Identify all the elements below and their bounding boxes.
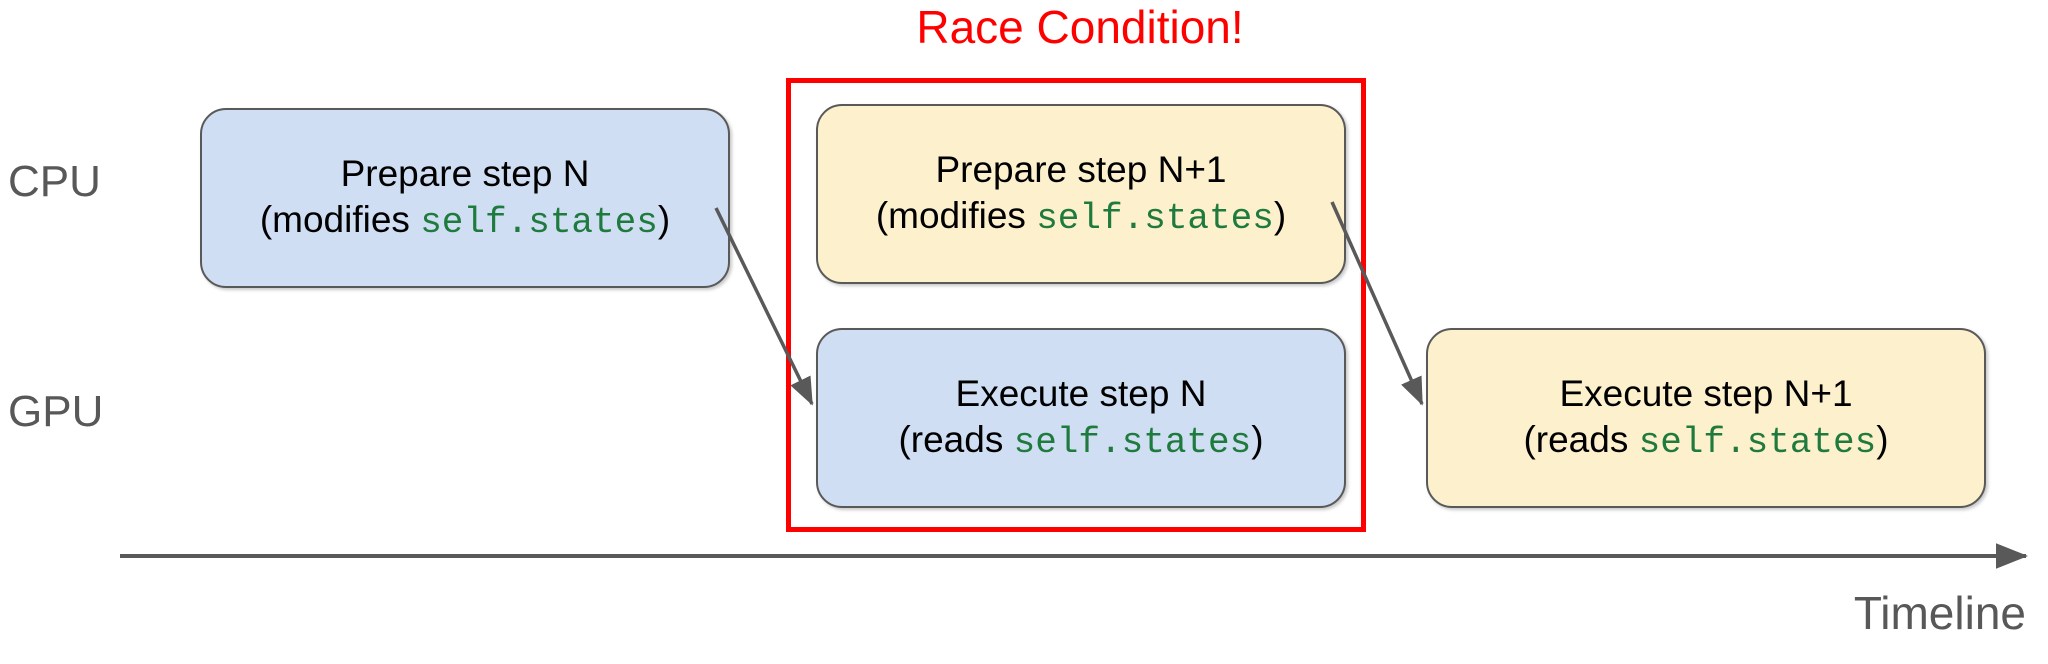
- text-suffix: ): [658, 199, 670, 240]
- text-suffix: ): [1876, 419, 1888, 460]
- task-box-execute-step-n-line1: Execute step N: [956, 371, 1207, 417]
- diagram-canvas: CPU GPU Race Condition! Prepare step N (…: [0, 0, 2048, 664]
- code-token-self-states: self.states: [420, 202, 658, 243]
- task-box-execute-step-n-line2: (reads self.states): [898, 417, 1263, 466]
- task-box-execute-step-n-plus-1[interactable]: Execute step N+1 (reads self.states): [1426, 328, 1986, 508]
- code-token-self-states: self.states: [1014, 422, 1252, 463]
- dependency-arrow-prepare-n-to-execute-n: [716, 208, 812, 404]
- text-suffix: ): [1251, 419, 1263, 460]
- text-prefix: (modifies: [260, 199, 420, 240]
- task-box-prepare-step-n-line2: (modifies self.states): [260, 197, 670, 246]
- task-box-prepare-step-n-line1: Prepare step N: [341, 151, 590, 197]
- race-condition-title: Race Condition!: [880, 2, 1280, 52]
- task-box-prepare-step-n-plus-1[interactable]: Prepare step N+1 (modifies self.states): [816, 104, 1346, 284]
- task-box-prepare-step-n[interactable]: Prepare step N (modifies self.states): [200, 108, 730, 288]
- text-prefix: (modifies: [876, 195, 1036, 236]
- code-token-self-states: self.states: [1036, 198, 1274, 239]
- task-box-execute-step-n-plus-1-line1: Execute step N+1: [1559, 371, 1852, 417]
- task-box-prepare-step-n-plus-1-line2: (modifies self.states): [876, 193, 1286, 242]
- text-suffix: ): [1274, 195, 1286, 236]
- code-token-self-states: self.states: [1639, 422, 1877, 463]
- lane-label-cpu: CPU: [8, 160, 148, 204]
- text-prefix: (reads: [898, 419, 1013, 460]
- text-prefix: (reads: [1523, 419, 1638, 460]
- task-box-execute-step-n[interactable]: Execute step N (reads self.states): [816, 328, 1346, 508]
- task-box-prepare-step-n-plus-1-line1: Prepare step N+1: [935, 147, 1226, 193]
- task-box-execute-step-n-plus-1-line2: (reads self.states): [1523, 417, 1888, 466]
- lane-label-gpu: GPU: [8, 390, 148, 434]
- timeline-axis-label: Timeline: [1854, 588, 2026, 638]
